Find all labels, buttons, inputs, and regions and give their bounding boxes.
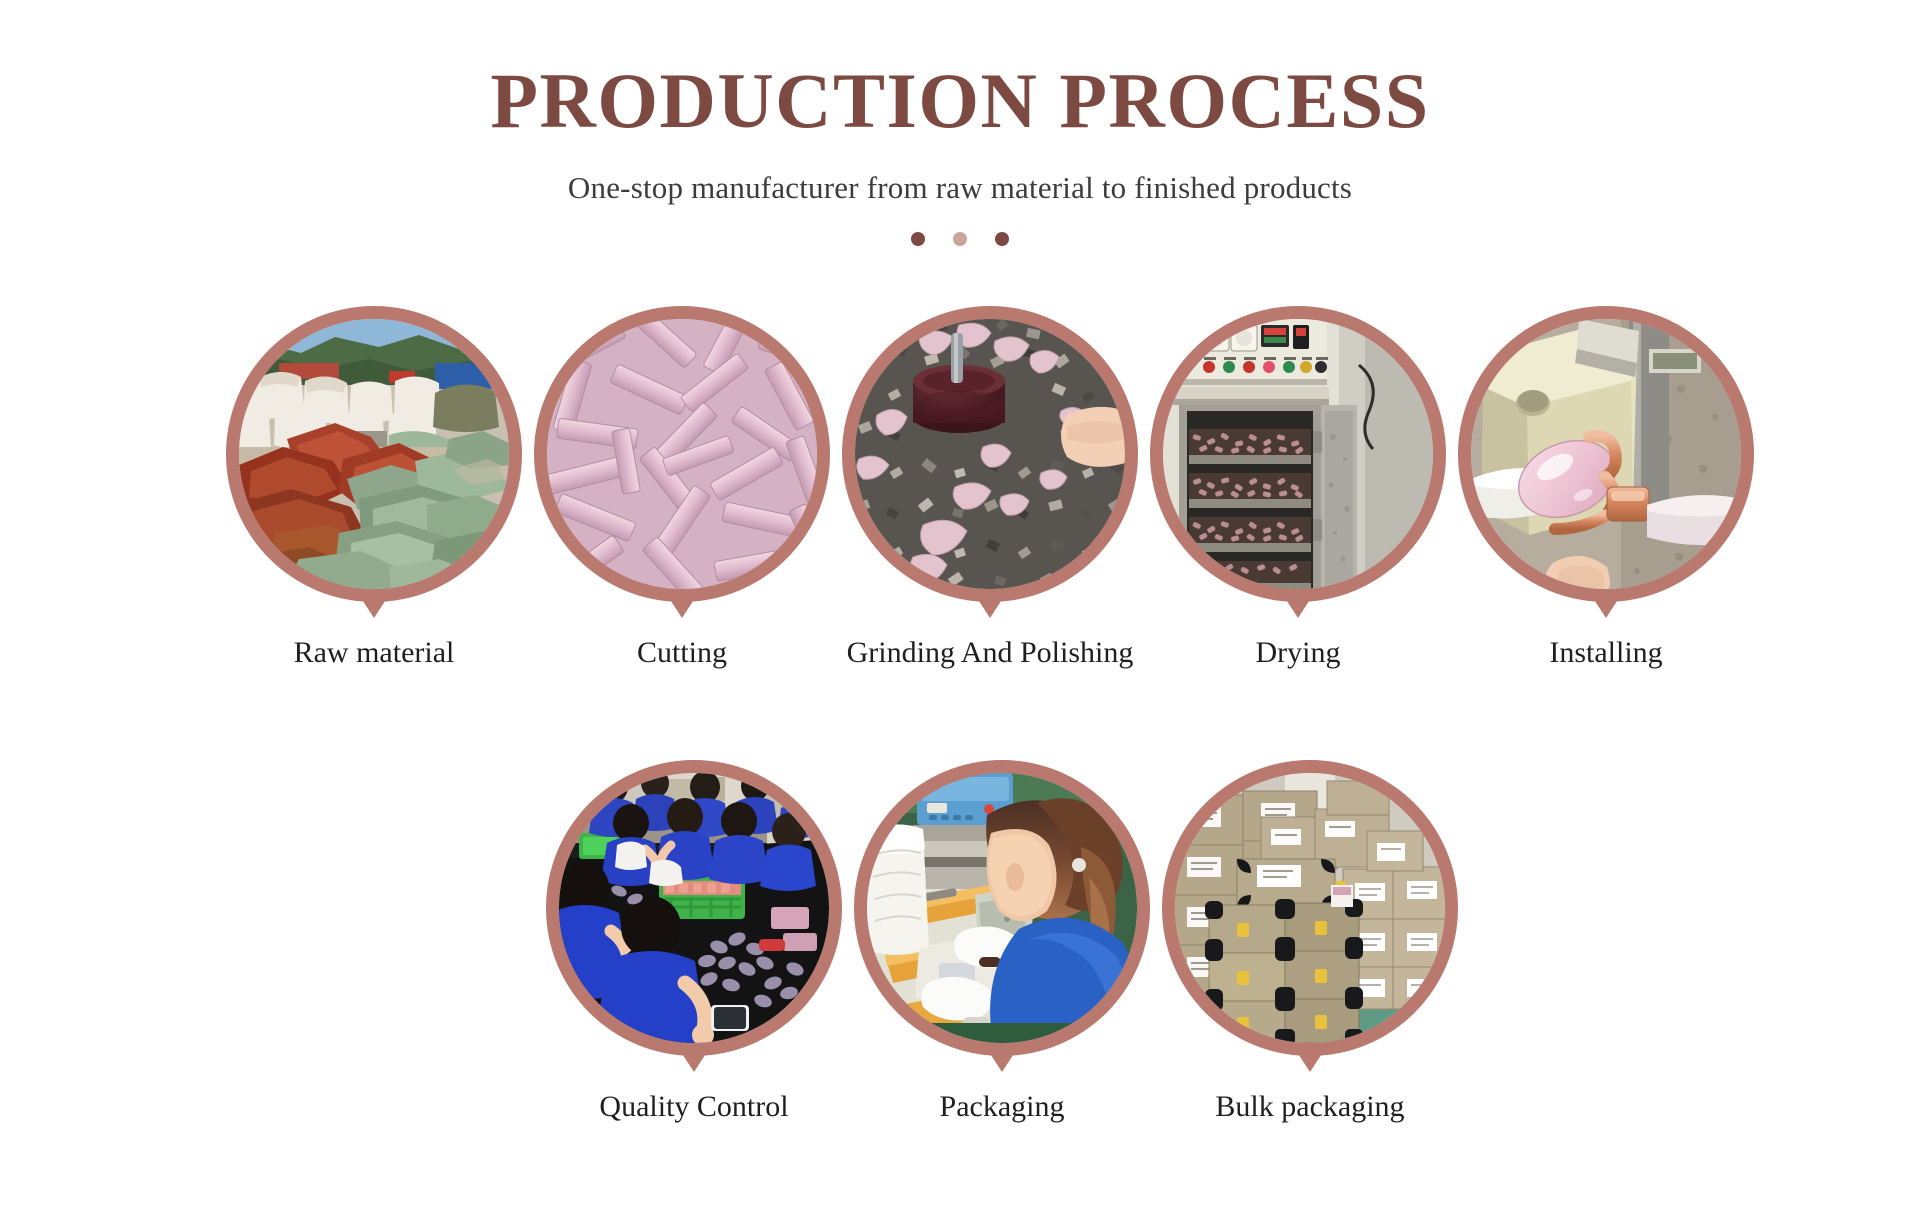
process-row-1: Raw material: [220, 306, 1760, 670]
page-header: PRODUCTION PROCESS One-stop manufacturer…: [0, 0, 1920, 246]
step-label: Packaging: [940, 1090, 1065, 1124]
step-label: Drying: [1256, 636, 1341, 670]
bulk-packaging-photo: [1175, 773, 1445, 1043]
step-bubble: [546, 760, 842, 1056]
dot-divider: [0, 232, 1920, 246]
divider-dot-2: [953, 232, 967, 246]
quality-control-photo: [559, 773, 829, 1043]
step-label: Quality Control: [599, 1090, 788, 1124]
page-subtitle: One-stop manufacturer from raw material …: [0, 170, 1920, 206]
divider-dot-3: [995, 232, 1009, 246]
installing-photo: [1471, 319, 1741, 589]
packaging-photo: [867, 773, 1137, 1043]
page-title: PRODUCTION PROCESS: [0, 62, 1920, 140]
process-step-raw-material[interactable]: Raw material: [220, 306, 528, 670]
step-label: Raw material: [294, 636, 455, 670]
process-step-cutting[interactable]: Cutting: [528, 306, 836, 670]
process-step-drying[interactable]: Drying: [1144, 306, 1452, 670]
cutting-photo: [547, 319, 817, 589]
process-step-installing[interactable]: Installing: [1452, 306, 1760, 670]
divider-dot-1: [911, 232, 925, 246]
raw-material-photo: [239, 319, 509, 589]
step-label: Bulk packaging: [1215, 1090, 1404, 1124]
process-step-bulk-packaging[interactable]: Bulk packaging: [1156, 760, 1464, 1124]
process-row-2: Quality Control: [540, 760, 1464, 1124]
step-label: Cutting: [637, 636, 727, 670]
drying-photo: [1163, 319, 1433, 589]
step-label: Grinding And Polishing: [847, 636, 1134, 670]
production-process-page: PRODUCTION PROCESS One-stop manufacturer…: [0, 0, 1920, 1212]
step-label: Installing: [1549, 636, 1662, 670]
step-bubble: [1150, 306, 1446, 602]
step-bubble: [226, 306, 522, 602]
process-step-grinding-and-polishing[interactable]: Grinding And Polishing: [836, 306, 1144, 670]
process-step-quality-control[interactable]: Quality Control: [540, 760, 848, 1124]
grinding-and-polishing-photo: [855, 319, 1125, 589]
step-bubble: [1162, 760, 1458, 1056]
step-bubble: [854, 760, 1150, 1056]
step-bubble: [534, 306, 830, 602]
step-bubble: [842, 306, 1138, 602]
process-step-packaging[interactable]: Packaging: [848, 760, 1156, 1124]
step-bubble: [1458, 306, 1754, 602]
